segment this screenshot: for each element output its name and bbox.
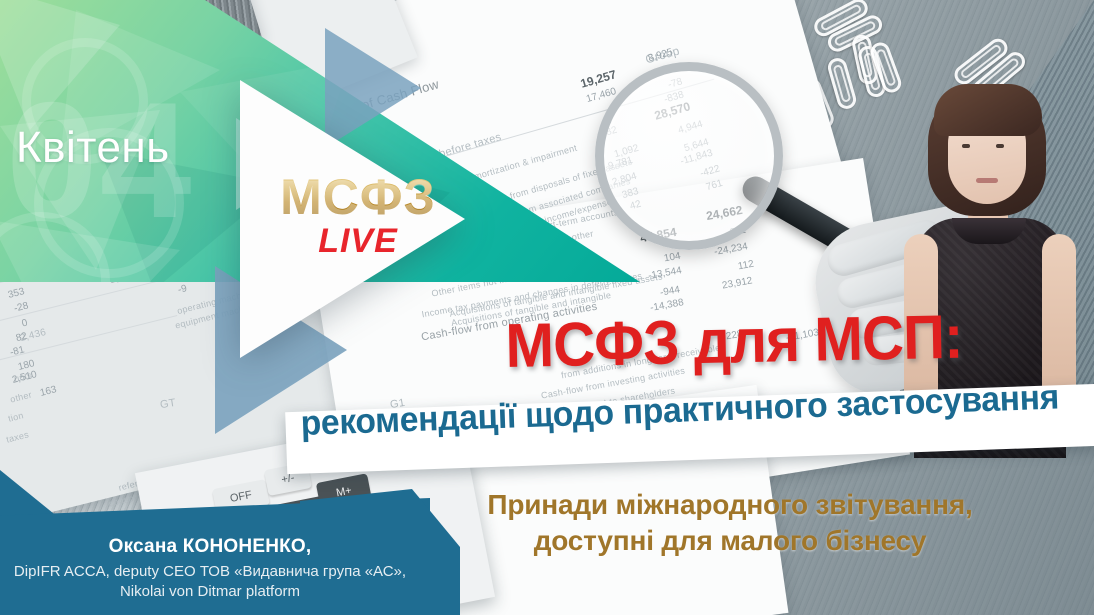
presenter-name: Оксана КОНОНЕНКО, xyxy=(0,536,420,558)
tagline: Принади міжнародного звітування, доступн… xyxy=(470,487,990,560)
presenter-eye-left xyxy=(962,144,970,148)
main-title: МСФЗ для МСП: xyxy=(505,307,963,378)
presenter-role-line-1: DipIFR ACCA, deputy CEO ТОВ «Видавнича г… xyxy=(0,562,420,582)
magnifier-lens xyxy=(595,62,783,250)
brand-logo: МСФЗ LIVE xyxy=(258,172,458,258)
presenter-role-line-2: Nikolai von Ditmar platform xyxy=(0,582,420,602)
presenter-eye-right xyxy=(996,144,1004,148)
poster-canvas: Statement of Cash Flow Group Profit befo… xyxy=(0,0,1094,615)
tagline-line-2: доступні для малого бізнесу xyxy=(470,523,990,559)
presenter-mouth xyxy=(976,178,998,183)
tagline-line-1: Принади міжнародного звітування, xyxy=(470,487,990,523)
brand-name: МСФЗ xyxy=(258,172,458,222)
presenter-role: DipIFR ACCA, deputy CEO ТОВ «Видавнича г… xyxy=(0,562,420,602)
brand-live-badge: LIVE xyxy=(258,224,458,258)
month-label: Квітень xyxy=(16,123,170,173)
presenter-fringe xyxy=(934,84,1042,136)
